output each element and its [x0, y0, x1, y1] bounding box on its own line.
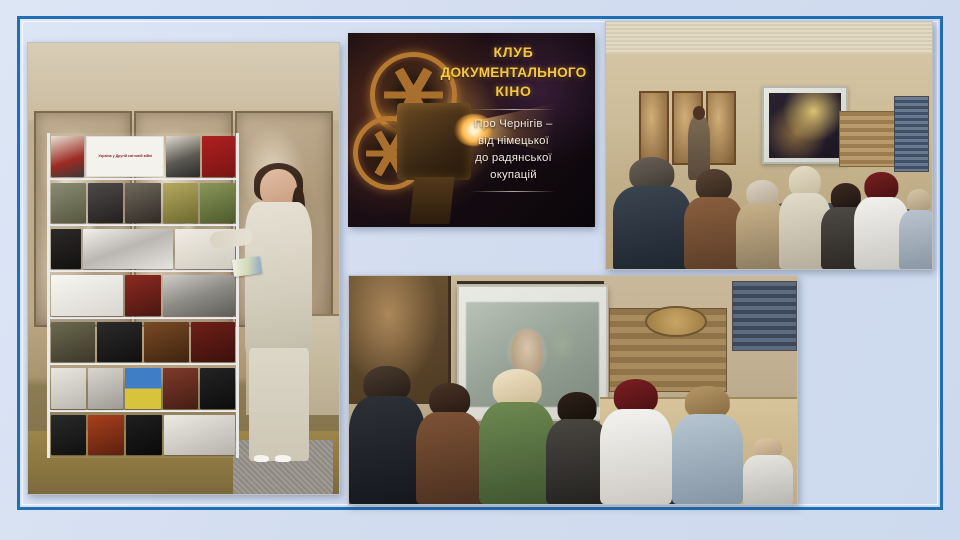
poster-text-block: КЛУБ ДОКУМЕНТАЛЬНОГО КІНО Про Чернігів –…: [437, 43, 590, 198]
torso: [684, 197, 743, 269]
book: [191, 322, 236, 362]
book: [51, 136, 85, 176]
torso: [613, 186, 691, 269]
book: [200, 368, 235, 408]
poster-title-line-2: ДОКУМЕНТАЛЬНОГО: [437, 63, 590, 82]
book: [88, 368, 123, 408]
open-book: [83, 229, 173, 269]
book: [88, 415, 124, 455]
audience-member: [479, 369, 555, 504]
torso: [245, 202, 312, 357]
photo-library-book-exhibition[interactable]: Україна у Другій світовій війні: [27, 42, 340, 495]
book: [51, 322, 96, 362]
book: [125, 275, 161, 315]
audience-member: [416, 383, 483, 504]
poster-title-line-3: КІНО: [437, 82, 590, 102]
book-exhibition-scene: Україна у Другій світовій війні: [28, 43, 339, 494]
torso: [600, 409, 672, 504]
shelf-row: [50, 274, 237, 318]
book: [144, 322, 189, 362]
poster-subtitle-line-4: окупацій: [437, 167, 590, 184]
book: [166, 136, 200, 176]
shelf-row: [50, 367, 237, 411]
audience-member: [613, 157, 691, 269]
audience-group: [606, 126, 932, 269]
book: [125, 368, 160, 408]
poster-title-line-1: КЛУБ: [437, 43, 590, 63]
torso: [743, 455, 792, 504]
book: [163, 183, 198, 223]
book: [202, 136, 236, 176]
poster-scene: КЛУБ ДОКУМЕНТАЛЬНОГО КІНО Про Чернігів –…: [348, 33, 595, 227]
book: [51, 229, 81, 269]
torso: [349, 396, 425, 504]
book: [126, 415, 162, 455]
audience-member: [600, 379, 672, 504]
open-book: [51, 275, 123, 315]
photo-audience-film-screening[interactable]: [348, 275, 798, 505]
book: [200, 183, 235, 223]
poster-subtitle-line-3: до радянської: [437, 150, 590, 167]
torso: [899, 210, 933, 269]
shoe: [275, 455, 291, 462]
photo-documentary-film-club-poster[interactable]: КЛУБ ДОКУМЕНТАЛЬНОГО КІНО Про Чернігів –…: [348, 33, 595, 227]
exhibition-sign: Україна у Другій світовій війні: [86, 136, 164, 176]
torso: [672, 414, 744, 504]
book: [163, 275, 235, 315]
book: [51, 415, 87, 455]
extended-arm: [209, 227, 252, 249]
divider-rule: [471, 191, 557, 192]
photo-audience-presentation[interactable]: [605, 21, 933, 270]
poster-subtitle-line-1: Про Чернігів –: [437, 116, 590, 133]
audience-member: [672, 386, 744, 504]
held-book: [232, 256, 262, 277]
shelf-row: [50, 182, 237, 226]
book-display-rack: Україна у Другій світовій війні: [47, 133, 240, 458]
book: [88, 183, 123, 223]
film-screening-scene: [349, 276, 797, 504]
round-wooden-sign: [645, 306, 707, 337]
staff-member: [743, 438, 792, 504]
torso: [479, 402, 555, 504]
book: [51, 183, 86, 223]
upper-wall: [28, 43, 339, 120]
shelf-row: [50, 228, 237, 272]
audience-member: [349, 366, 425, 504]
book: [163, 368, 198, 408]
book: [97, 322, 142, 362]
shelf-row: Україна у Другій світовій війні: [50, 135, 237, 179]
screen-mount-rod: [457, 281, 605, 284]
shelf-row: [50, 414, 237, 456]
audience-member: [684, 169, 743, 269]
legs: [249, 348, 309, 461]
book: [125, 183, 160, 223]
shoe: [254, 455, 270, 462]
book: [51, 368, 86, 408]
shelf-row: [50, 321, 237, 365]
audience-presentation-scene: [606, 22, 932, 269]
presentation-slide: Україна у Другій світовій війні: [0, 0, 960, 540]
divider-rule: [471, 109, 557, 110]
audience-group: [349, 340, 797, 504]
audience-member: [899, 189, 933, 269]
librarian-figure: [239, 169, 332, 467]
poster-subtitle-line-2: від німецької: [437, 133, 590, 150]
open-book: [164, 415, 236, 455]
torso: [416, 412, 483, 504]
ceiling: [606, 22, 932, 54]
